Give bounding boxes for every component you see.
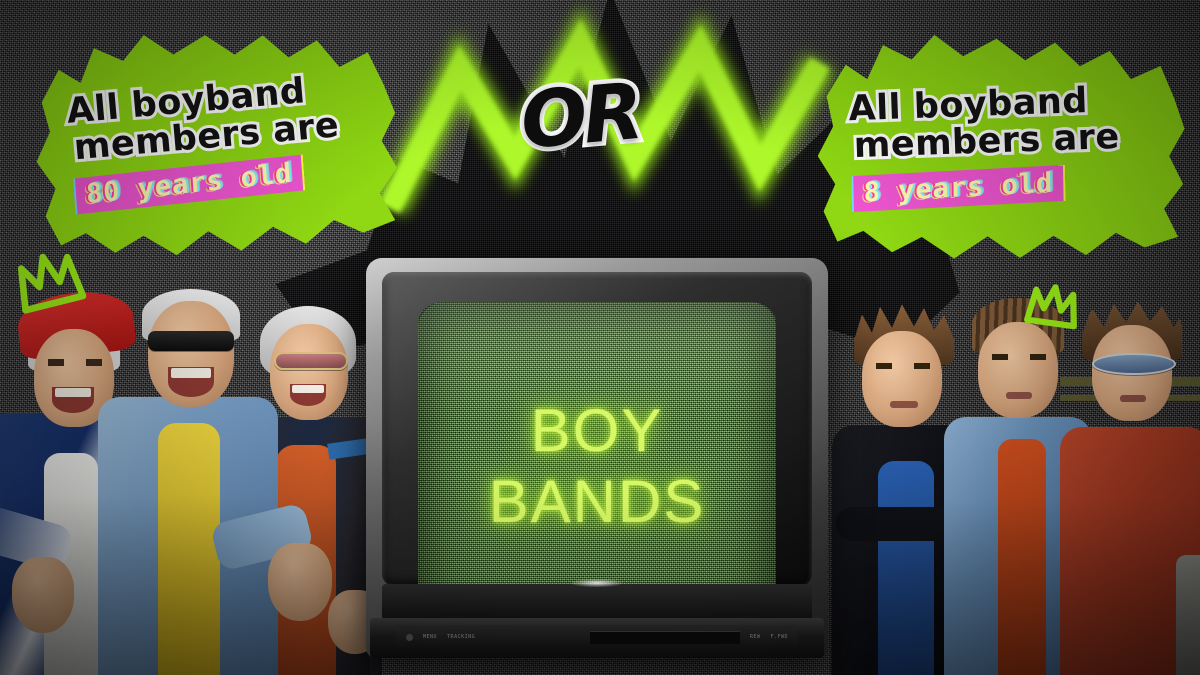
boyband-poster: OR All boyband members are 80 years old … [0, 0, 1200, 675]
vignette-overlay [0, 0, 1200, 675]
